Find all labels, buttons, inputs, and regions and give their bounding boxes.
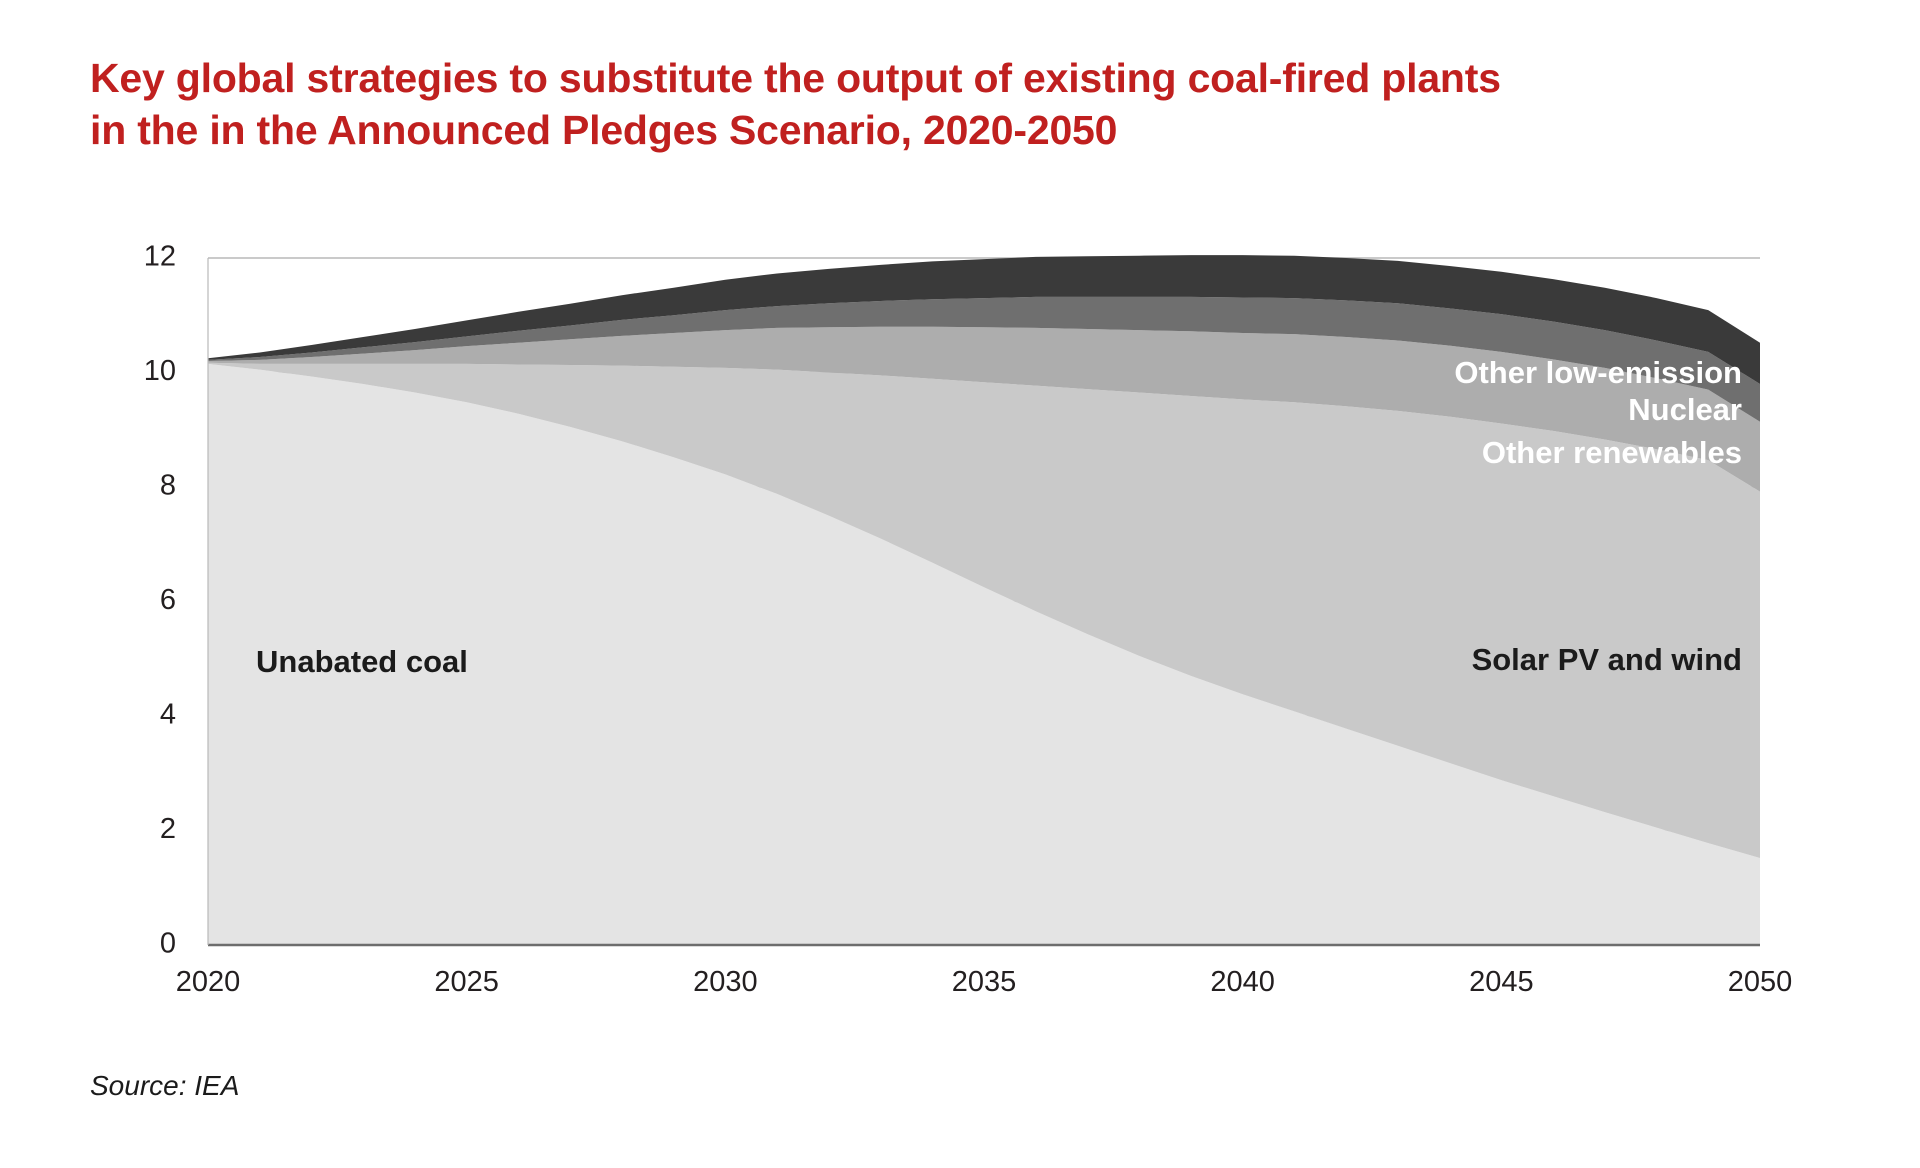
source-note: Source: IEA (90, 1070, 239, 1102)
x-tick-label-2035: 2035 (952, 966, 1017, 998)
y-tick-label-0: 0 (160, 928, 176, 960)
series-annotation-other-low-emission: Other low-emission (1454, 355, 1742, 390)
x-tick-label-2045: 2045 (1469, 966, 1534, 998)
y-tick-label-6: 6 (160, 584, 176, 616)
x-axis-tick-labels: 2020202520302035204020452050 (176, 966, 1793, 998)
series-annotation-other-renewables: Other renewables (1482, 435, 1742, 470)
x-tick-label-2050: 2050 (1728, 966, 1793, 998)
y-tick-label-4: 4 (160, 699, 176, 731)
chart-container: 121086420 2020202520302035204020452050 O… (0, 0, 1920, 1168)
x-tick-label-2030: 2030 (693, 966, 758, 998)
chart-page: Key global strategies to substitute the … (0, 0, 1920, 1168)
y-tick-label-8: 8 (160, 470, 176, 502)
x-tick-label-2020: 2020 (176, 966, 241, 998)
area-chart-svg: 121086420 2020202520302035204020452050 O… (0, 0, 1920, 1168)
x-tick-label-2025: 2025 (434, 966, 499, 998)
y-tick-label-10: 10 (144, 355, 176, 387)
x-tick-label-2040: 2040 (1210, 966, 1275, 998)
y-tick-label-12: 12 (144, 241, 176, 273)
y-axis-tick-labels: 121086420 (144, 241, 176, 960)
series-annotation-nuclear: Nuclear (1628, 392, 1742, 427)
series-annotation-unabated-coal: Unabated coal (256, 644, 468, 679)
y-tick-label-2: 2 (160, 813, 176, 845)
series-annotation-solar-pv-and-wind: Solar PV and wind (1472, 642, 1742, 677)
